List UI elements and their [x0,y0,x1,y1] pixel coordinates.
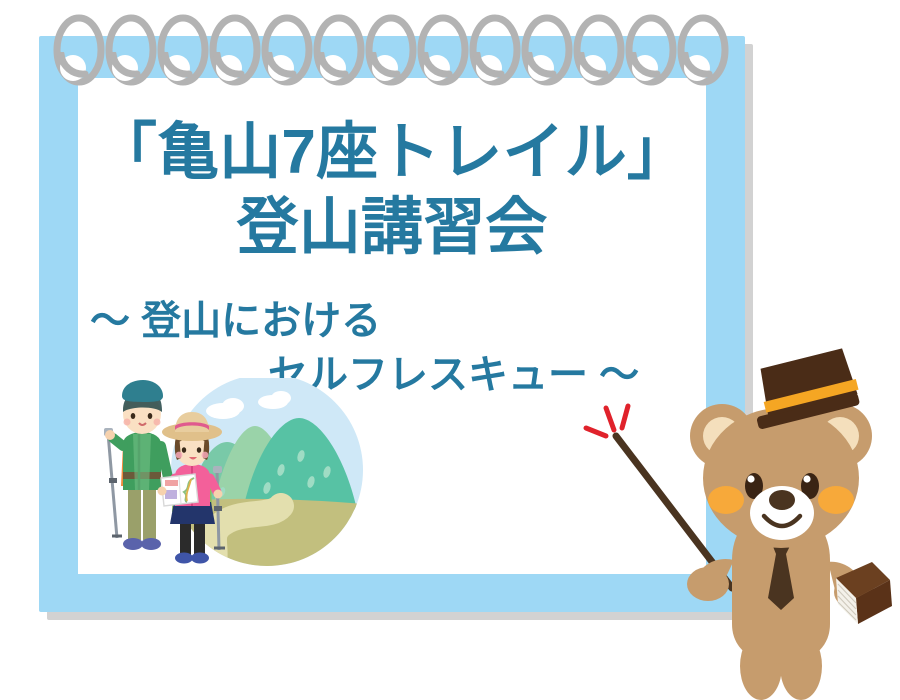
left-eye [131,413,136,419]
left-eye-glint [747,475,754,482]
poster-title: 「亀山7座トレイル」 登山講習会 [78,120,706,262]
hikers-illustration [95,378,395,588]
teacher-bear-mascot [660,348,900,700]
title-line-2: 登山講習会 [78,195,706,262]
nose [769,490,795,510]
subtitle-line-1: 〜 登山における [78,298,706,344]
sparkle-lines [586,406,628,436]
left-eye [182,447,186,453]
spiral-punch-holes [39,52,745,88]
right-eye-glint [803,475,810,482]
left-shoe [123,538,143,550]
left-hand [105,430,115,440]
left-leg [128,486,141,540]
left-paw [687,567,729,601]
right-leg [143,486,156,540]
right-shoe [141,538,161,550]
trekking-pole-left [108,433,117,538]
male-hiker [104,380,176,550]
left-shoe [175,553,193,564]
left-cheek [708,486,744,514]
right-cheek [818,486,854,514]
right-eye [148,413,153,419]
poster-canvas: 「亀山7座トレイル」 登山講習会 〜 登山における セルフレスキュー 〜 [0,0,900,700]
cap [122,380,163,402]
right-hand [214,490,223,499]
trail-map [161,474,198,506]
left-hand [158,487,167,496]
title-line-1: 「亀山7座トレイル」 [78,120,706,187]
right-eye [197,447,201,453]
right-shoe [191,553,209,564]
